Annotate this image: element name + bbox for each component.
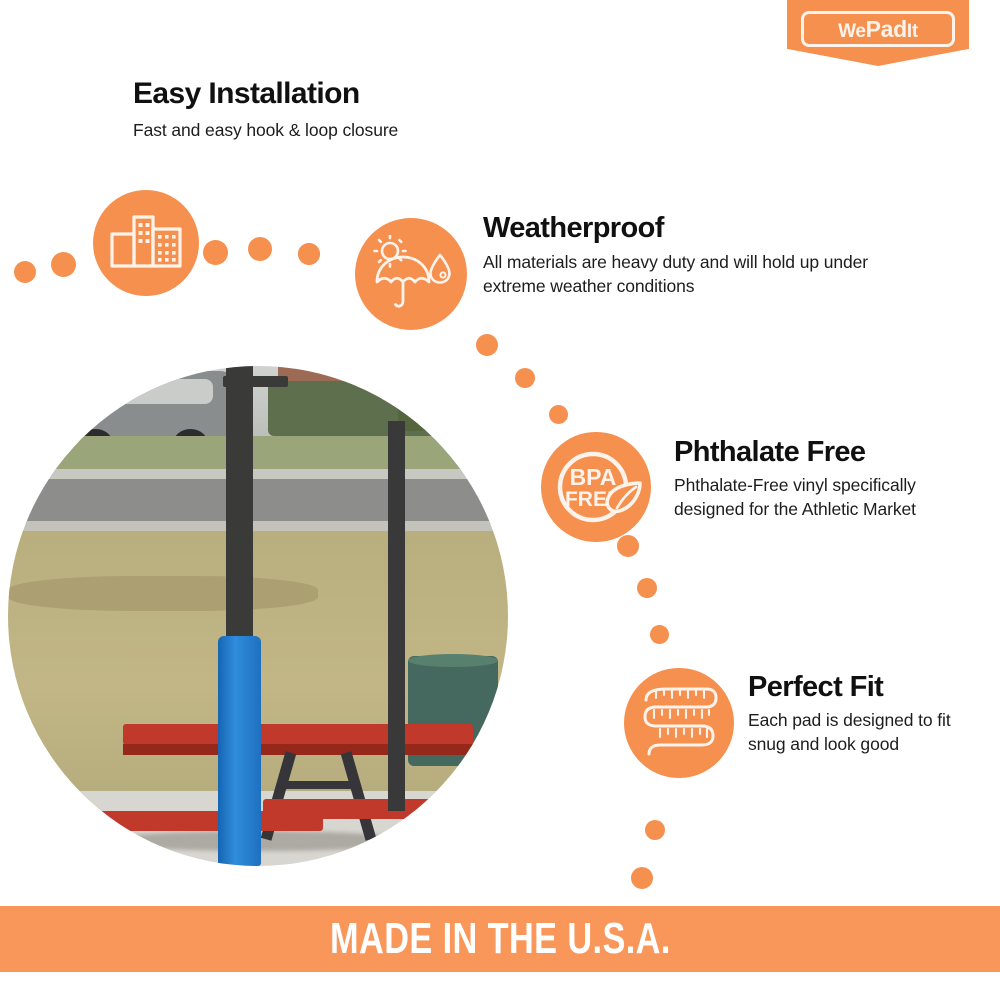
photo-blue-post-pad <box>218 636 261 866</box>
photo-road-edge <box>8 521 508 531</box>
building-icon <box>110 212 182 274</box>
brand-logo[interactable]: WePadIt <box>787 0 969 66</box>
trail-dot <box>515 368 535 388</box>
trail-dot <box>617 535 639 557</box>
feature-description: Fast and easy hook & loop closure <box>133 119 573 142</box>
feature-title: Easy Installation <box>133 78 573 110</box>
trail-dot <box>631 867 653 889</box>
bpa-text-line1: BPA <box>570 464 617 490</box>
trail-dot <box>637 578 657 598</box>
trail-dot <box>248 237 272 261</box>
trail-dot <box>476 334 498 356</box>
feature-title: Perfect Fit <box>748 672 988 702</box>
bpa-free-leaf-icon: BPA FREE <box>548 443 644 531</box>
trail-dot <box>298 243 320 265</box>
feature-description: Phthalate-Free vinyl specifically design… <box>674 474 979 520</box>
logo-text-it: It <box>907 21 918 42</box>
trail-dot <box>203 240 228 265</box>
photo-dirt-patch <box>8 576 318 611</box>
photo-table-crossbar <box>283 781 358 789</box>
feature-title: Weatherproof <box>483 213 913 243</box>
photo-picnic-table-top <box>123 724 473 745</box>
trail-dot <box>51 252 76 277</box>
feature-icon-phthalate-free[interactable]: BPA FREE <box>541 432 651 542</box>
made-in-usa-text: MADE IN THE U.S.A. <box>330 917 671 961</box>
photo-picnic-table-edge <box>123 744 473 755</box>
feature-description: Each pad is designed to fit snug and loo… <box>748 709 988 755</box>
photo-bench-near <box>88 811 323 831</box>
trail-dot <box>549 405 568 424</box>
measuring-tape-icon <box>636 680 722 766</box>
logo-text-pad: Pad <box>866 16 907 42</box>
logo-wordmark: WePadIt <box>838 18 918 41</box>
feature-description: All materials are heavy duty and will ho… <box>483 251 913 297</box>
photo-post-bracket <box>223 376 288 387</box>
feature-icon-weatherproof[interactable] <box>355 218 467 330</box>
feature-block-weatherproof: Weatherproof All materials are heavy dut… <box>483 213 913 298</box>
feature-block-easy-installation: Easy Installation Fast and easy hook & l… <box>133 78 573 142</box>
trail-dot <box>645 820 665 840</box>
photo-suv-window <box>73 379 213 404</box>
photo-scene <box>8 366 508 866</box>
feature-icon-easy-installation[interactable] <box>93 190 199 296</box>
feature-icon-perfect-fit[interactable] <box>624 668 734 778</box>
photo-hedge-right <box>398 371 508 431</box>
trail-dot <box>650 625 669 644</box>
feature-block-phthalate-free: Phthalate Free Phthalate-Free vinyl spec… <box>674 437 979 521</box>
sun-umbrella-raindrop-icon <box>369 235 453 313</box>
photo-road <box>8 479 508 524</box>
feature-block-perfect-fit: Perfect Fit Each pad is designed to fit … <box>748 672 988 756</box>
trail-dot <box>14 261 36 283</box>
feature-title: Phthalate Free <box>674 437 979 467</box>
made-in-usa-banner: MADE IN THE U.S.A. <box>0 906 1000 972</box>
logo-text-we: We <box>838 21 866 42</box>
photo-trash-drum-rim <box>408 654 498 667</box>
product-photo <box>8 366 508 866</box>
photo-shade-post-right <box>388 421 405 811</box>
logo-outline-box: WePadIt <box>801 11 955 47</box>
